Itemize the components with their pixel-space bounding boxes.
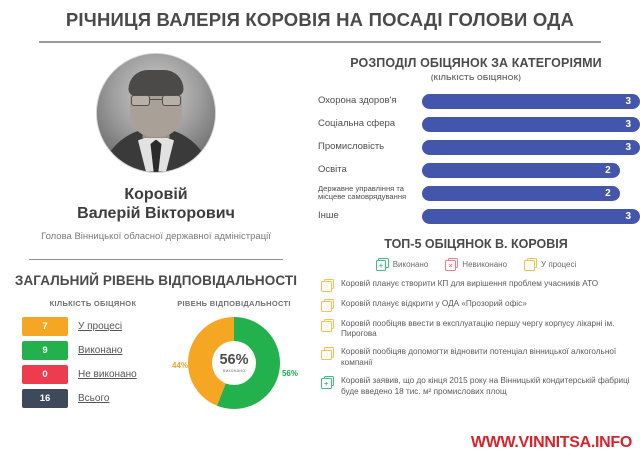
bar-track: 3 (422, 117, 640, 132)
promise-list: ◌Коровій планує створити КП для вирішенн… (312, 279, 640, 398)
status-progress-icon: ◌ (321, 279, 334, 292)
donut-wrapper: 56% виконано 44% 56% (164, 317, 304, 409)
bar-value-label: 2 (605, 188, 611, 199)
bar-track: 3 (422, 94, 640, 109)
bar-value-label: 3 (625, 96, 631, 107)
bar-fill: 2 (422, 186, 620, 201)
bar-fill: 2 (422, 163, 620, 178)
list-item: ◌Коровій планує створити КП для вирішенн… (321, 279, 634, 292)
count-label: Всього (78, 393, 109, 404)
count-label: Не виконано (78, 369, 137, 380)
icon-front-sheet: + (376, 260, 387, 271)
bar-row: Промисловість3 (318, 138, 640, 157)
bar-row: Охорона здоров'я3 (318, 92, 640, 111)
bar-track: 2 (422, 163, 640, 178)
responsibility-title: ЗАГАЛЬНИЙ РІВЕНЬ ВІДПОВІДАЛЬНОСТІ (0, 273, 312, 288)
person-name: Коровій Валерій Вікторович (0, 185, 312, 224)
promise-count-header: КІЛЬКІСТЬ ОБІЦЯНОК (22, 299, 164, 308)
glasses-lens-left (131, 95, 150, 106)
list-item: ◌Коровій планує відкрити у ОДА «Прозорий… (321, 299, 634, 312)
promise-text: Коровій планує створити КП для вирішення… (341, 279, 598, 290)
icon-front-sheet: ◌ (321, 301, 332, 312)
person-surname: Коровій (0, 185, 312, 205)
bar-track: 2 (422, 186, 640, 201)
bar-fill: 3 (422, 140, 640, 155)
status-done-icon: + (321, 376, 334, 389)
table-row: 0 Не виконано (22, 365, 164, 384)
bar-category-label: Соціальна сфера (318, 119, 422, 129)
bar-fill: 3 (422, 209, 640, 224)
list-item: ◌Коровій пообіцяв ввести в експлуатацію … (321, 319, 634, 341)
list-item: +Коровій заявив, що до кінця 2015 року н… (321, 376, 634, 398)
top5-legend-label: У процесі (541, 260, 576, 269)
donut-ring: 56% виконано (188, 317, 280, 409)
icon-front-sheet: × (445, 260, 456, 271)
promise-count-table: КІЛЬКІСТЬ ОБІЦЯНОК 7 У процесі 9 Виконан… (22, 299, 164, 413)
count-chip: 7 (22, 317, 68, 336)
profile-block: Коровій Валерій Вікторович Голова Вінниц… (0, 43, 312, 242)
top5-legend-item: ×Невиконано (445, 258, 507, 271)
left-divider (29, 259, 283, 261)
top5-legend-label: Невиконано (462, 260, 507, 269)
bar-fill: 3 (422, 117, 640, 132)
status-progress-icon: ◌ (321, 319, 334, 332)
responsibility-donut-chart: РІВЕНЬ ВІДПОВІДАЛЬНОСТІ 56% виконано 44%… (164, 299, 304, 413)
bar-category-label: Промисловість (318, 142, 422, 152)
portrait-hair (129, 70, 184, 96)
table-row: 16 Всього (22, 389, 164, 408)
top5-legend-item: +Виконано (376, 258, 429, 271)
donut-slice-label-left: 44% (172, 361, 188, 370)
count-label: Виконано (78, 345, 122, 356)
page-title: РІЧНИЦЯ ВАЛЕРІЯ КОРОВІЯ НА ПОСАДІ ГОЛОВИ… (0, 9, 640, 31)
bar-value-label: 2 (605, 165, 611, 176)
promise-text: Коровій пообіцяв допомогти відновити пот… (341, 347, 634, 369)
table-row: 9 Виконано (22, 341, 164, 360)
icon-front-sheet: ◌ (321, 321, 332, 332)
bar-chart-title: РОЗПОДІЛ ОБІЦЯНОК ЗА КАТЕГОРІЯМИ (312, 43, 640, 70)
glasses-icon (131, 95, 181, 106)
status-failed-icon: × (445, 258, 458, 271)
status-done-icon: + (376, 258, 389, 271)
donut-slice-label-right: 56% (282, 369, 298, 378)
table-row: 7 У процесі (22, 317, 164, 336)
count-label: У процесі (78, 321, 122, 332)
status-progress-icon: ◌ (321, 347, 334, 360)
bar-value-label: 3 (625, 142, 631, 153)
person-role: Голова Вінницької обласної державної адм… (0, 231, 312, 242)
bar-chart-subtitle: (КІЛЬКІСТЬ ОБІЦЯНОК) (312, 73, 640, 82)
status-progress-icon: ◌ (321, 299, 334, 312)
bar-value-label: 3 (625, 119, 631, 130)
bar-track: 3 (422, 209, 640, 224)
top5-legend-label: Виконано (393, 260, 429, 269)
bar-row: Державне управління та місцеве самовряду… (318, 184, 640, 203)
bar-fill: 3 (422, 94, 640, 109)
left-column: Коровій Валерій Вікторович Голова Вінниц… (0, 43, 312, 443)
main-content: Коровій Валерій Вікторович Голова Вінниц… (0, 43, 640, 443)
count-chip: 16 (22, 389, 68, 408)
icon-front-sheet: ◌ (321, 281, 332, 292)
donut-center-value: 56% (219, 353, 248, 368)
icon-front-sheet: + (321, 378, 332, 389)
person-given-name: Валерій Вікторович (0, 204, 312, 224)
bar-category-label: Інше (318, 211, 422, 221)
bar-category-label: Державне управління та місцеве самовряду… (318, 185, 422, 201)
bar-track: 3 (422, 140, 640, 155)
top5-legend: +Виконано×Невиконано◌У процесі (312, 258, 640, 271)
bar-category-label: Охорона здоров'я (318, 96, 422, 106)
bar-category-label: Освіта (318, 165, 422, 175)
donut-header: РІВЕНЬ ВІДПОВІДАЛЬНОСТІ (164, 299, 304, 308)
promise-text: Коровій планує відкрити у ОДА «Прозорий … (341, 299, 527, 310)
count-chip: 9 (22, 341, 68, 360)
responsibility-body: КІЛЬКІСТЬ ОБІЦЯНОК 7 У процесі 9 Виконан… (0, 299, 312, 413)
bar-chart: Охорона здоров'я3Соціальна сфера3Промисл… (312, 92, 640, 226)
glasses-lens-right (162, 95, 181, 106)
top5-title: ТОП-5 ОБІЦЯНОК В. КОРОВІЯ (312, 237, 640, 251)
avatar (97, 54, 215, 172)
promise-text: Коровій заявив, що до кінця 2015 року на… (341, 376, 634, 398)
promise-text: Коровій пообіцяв ввести в експлуатацію п… (341, 319, 634, 341)
list-item: ◌Коровій пообіцяв допомогти відновити по… (321, 347, 634, 369)
icon-front-sheet: ◌ (321, 350, 332, 361)
count-chip: 0 (22, 365, 68, 384)
top5-legend-item: ◌У процесі (524, 258, 576, 271)
status-progress-icon: ◌ (524, 258, 537, 271)
right-column: РОЗПОДІЛ ОБІЦЯНОК ЗА КАТЕГОРІЯМИ (КІЛЬКІ… (312, 43, 640, 443)
donut-center: 56% виконано (212, 341, 256, 385)
glasses-bridge (150, 99, 162, 100)
donut-center-label: виконано (223, 369, 245, 374)
site-watermark: WWW.VINNITSA.INFO (471, 434, 632, 452)
icon-front-sheet: ◌ (524, 260, 535, 271)
bar-row: Інше3 (318, 207, 640, 226)
bar-row: Освіта2 (318, 161, 640, 180)
bar-row: Соціальна сфера3 (318, 115, 640, 134)
bar-value-label: 3 (625, 211, 631, 222)
page-header: РІЧНИЦЯ ВАЛЕРІЯ КОРОВІЯ НА ПОСАДІ ГОЛОВИ… (0, 0, 640, 43)
